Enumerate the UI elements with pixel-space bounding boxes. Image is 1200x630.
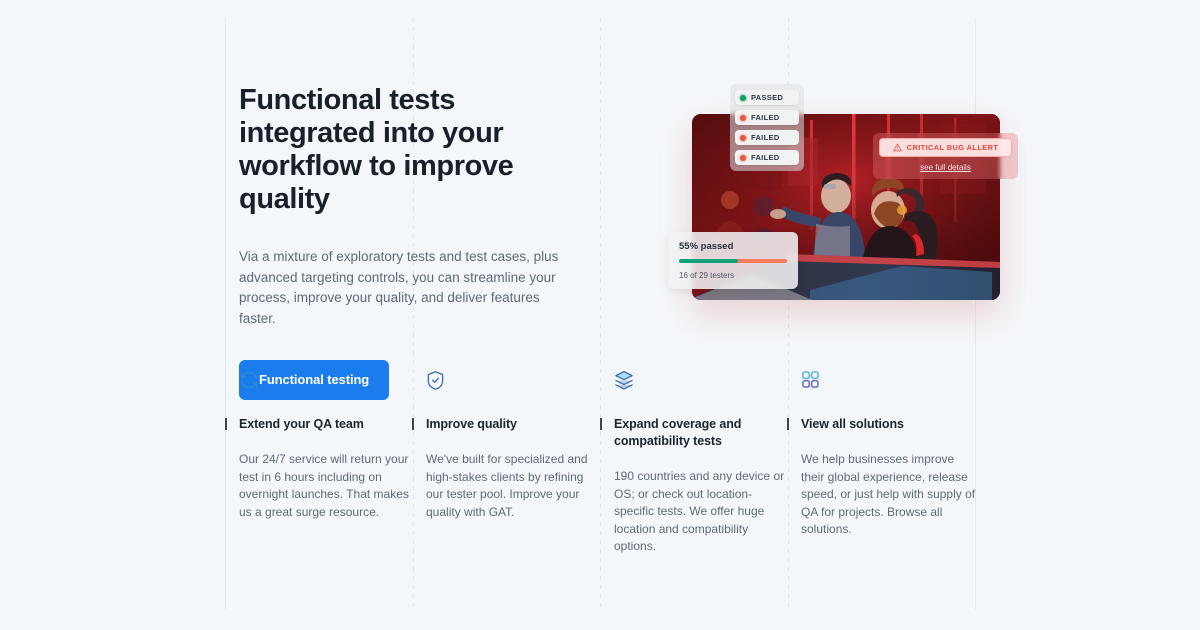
feature-title-text: Expand coverage and compatibility tests [614, 417, 741, 448]
feature-card-view-all-solutions[interactable]: View all solutions We help businesses im… [801, 370, 976, 539]
status-dot-passed-icon [740, 95, 746, 101]
feature-title: Improve quality [426, 416, 601, 433]
critical-bug-alert: CRITICAL BUG ALLERT see full details [873, 133, 1018, 179]
status-badge[interactable]: FAILED [735, 150, 799, 165]
layers-stack-icon [614, 370, 789, 396]
status-badge[interactable]: FAILED [735, 130, 799, 145]
status-dot-failed-icon [740, 135, 746, 141]
feature-body: 190 countries and any device or OS; or c… [614, 468, 789, 556]
status-label: PASSED [751, 93, 783, 102]
title-accent-bar [412, 418, 414, 430]
feature-title-text: Extend your QA team [239, 417, 364, 431]
feature-body: Our 24/7 service will return your test i… [239, 451, 414, 521]
feature-columns: Extend your QA team Our 24/7 service wil… [225, 370, 975, 570]
feature-title-text: View all solutions [801, 417, 904, 431]
feature-title-text: Improve quality [426, 417, 517, 431]
feature-card-extend-qa-team[interactable]: Extend your QA team Our 24/7 service wil… [239, 370, 414, 521]
pass-rate-percent: 55% passed [679, 241, 787, 252]
feature-title: View all solutions [801, 416, 976, 433]
feature-card-expand-coverage[interactable]: Expand coverage and compatibility tests … [614, 370, 789, 556]
hero-text-block: Functional tests integrated into your wo… [239, 84, 584, 400]
critical-bug-alert-label: CRITICAL BUG ALLERT [907, 143, 999, 152]
hero-subtitle: Via a mixture of exploratory tests and t… [239, 247, 569, 329]
status-label: FAILED [751, 113, 779, 122]
status-badge[interactable]: FAILED [735, 110, 799, 125]
hero-visual: PASSED FAILED FAILED FAILED [668, 84, 1020, 310]
feature-card-improve-quality[interactable]: Improve quality We've built for speciali… [426, 370, 601, 521]
feature-title: Expand coverage and compatibility tests [614, 416, 789, 450]
pass-rate-card: 55% passed 16 of 29 testers [668, 232, 798, 289]
status-label: FAILED [751, 133, 779, 142]
feature-body: We help businesses improve their global … [801, 451, 976, 539]
grid-four-icon [801, 370, 976, 396]
status-label: FAILED [751, 153, 779, 162]
page-root: Functional tests integrated into your wo… [0, 0, 1200, 630]
tester-count-label: 16 of 29 testers [679, 271, 787, 280]
refresh-cycle-icon [239, 370, 414, 396]
status-dot-failed-icon [740, 115, 746, 121]
title-accent-bar [600, 418, 602, 430]
warning-triangle-icon [893, 143, 902, 152]
feature-title: Extend your QA team [239, 416, 414, 433]
title-accent-bar [225, 418, 227, 430]
pass-rate-bar [679, 259, 787, 263]
status-badge[interactable]: PASSED [735, 90, 799, 105]
status-dot-failed-icon [740, 155, 746, 161]
feature-body: We've built for specialized and high-sta… [426, 451, 601, 521]
title-accent-bar [787, 418, 789, 430]
test-status-list: PASSED FAILED FAILED FAILED [730, 84, 804, 171]
page-title: Functional tests integrated into your wo… [239, 84, 584, 216]
see-full-details-link[interactable]: see full details [879, 163, 1012, 172]
shield-check-icon [426, 370, 601, 396]
pass-rate-bar-fill [679, 259, 738, 263]
critical-bug-alert-pill[interactable]: CRITICAL BUG ALLERT [879, 138, 1012, 157]
